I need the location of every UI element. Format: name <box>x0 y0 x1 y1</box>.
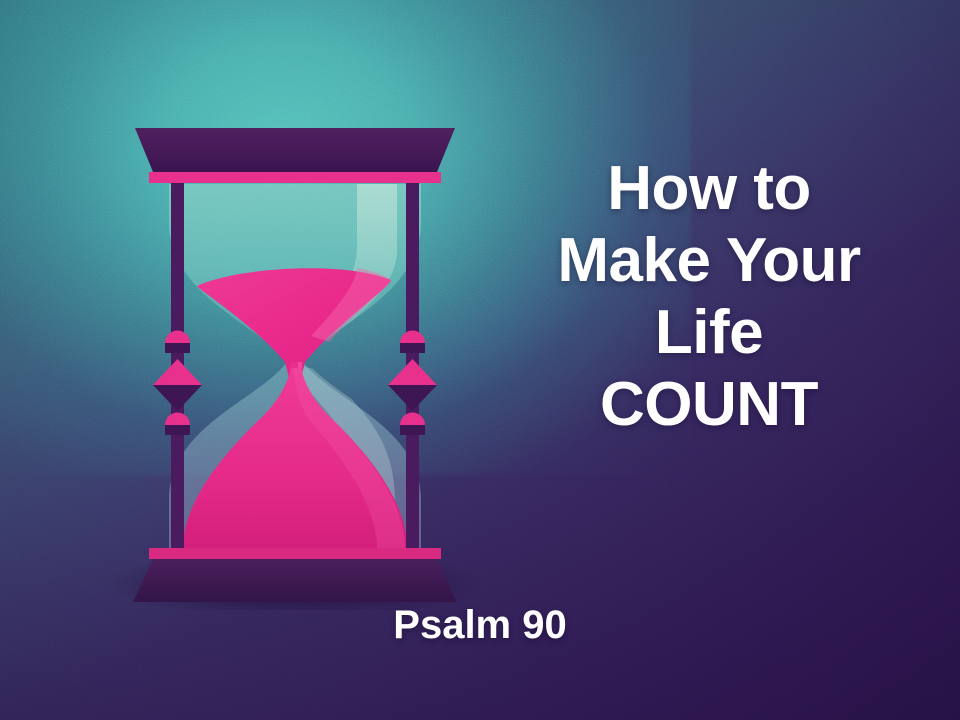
slide-canvas: How to Make Your Life COUNT Psalm 90 <box>0 0 960 720</box>
ornament-dome-bottom-right-base <box>400 425 425 435</box>
base-plate <box>133 559 457 602</box>
page-title: How to Make Your Life COUNT <box>470 158 948 436</box>
title-line-2: Make Your <box>470 230 948 292</box>
ornament-dome-bottom-right <box>400 413 425 425</box>
ornament-dome-top-left-base <box>165 343 190 353</box>
ornament-dome-bottom-left-base <box>165 425 190 435</box>
ornament-diamond-right-lower <box>388 385 437 411</box>
base-pink-band <box>149 548 441 559</box>
ornament-dome-top-right-base <box>400 343 425 353</box>
pillar-ornament-right <box>388 331 437 435</box>
ornament-diamond-left-upper <box>153 359 202 385</box>
hourglass-base <box>133 548 457 602</box>
hourglass-top-cap <box>135 128 455 183</box>
ornament-diamond-right-upper <box>388 359 437 385</box>
ornament-dome-top-right <box>400 331 425 343</box>
title-line-1: How to <box>470 158 948 220</box>
top-cap-pink-band <box>149 172 441 183</box>
top-cap-plate <box>135 128 455 172</box>
title-line-3: Life <box>470 302 948 364</box>
subtitle-scripture-reference: Psalm 90 <box>230 605 730 645</box>
ornament-dome-bottom-left <box>165 413 190 426</box>
hourglass-sand <box>183 268 407 548</box>
hourglass-illustration <box>105 110 485 610</box>
title-line-4: COUNT <box>470 374 948 436</box>
pillar-ornament-left <box>153 331 202 436</box>
ornament-dome-top-left <box>165 331 190 344</box>
ornament-diamond-left-lower <box>153 385 202 411</box>
